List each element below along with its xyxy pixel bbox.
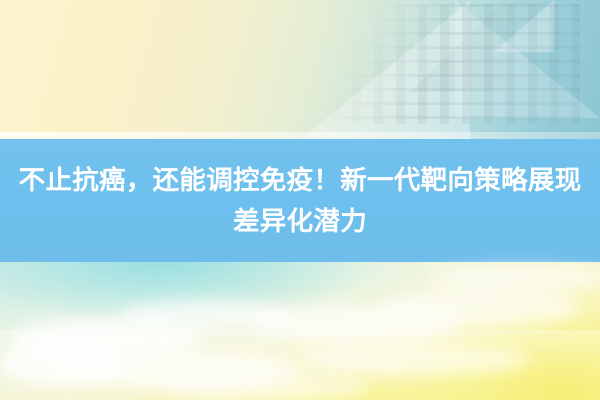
poster-canvas: 不止抗癌，还能调控免疫！新一代靶向策略展现差异化潜力 [0, 0, 600, 400]
title-band: 不止抗癌，还能调控免疫！新一代靶向策略展现差异化潜力 [0, 139, 600, 262]
top-gradient-band [0, 0, 600, 140]
poster-title: 不止抗癌，还能调控免疫！新一代靶向策略展现差异化潜力 [10, 160, 590, 242]
sky-warm-tint [330, 275, 600, 400]
